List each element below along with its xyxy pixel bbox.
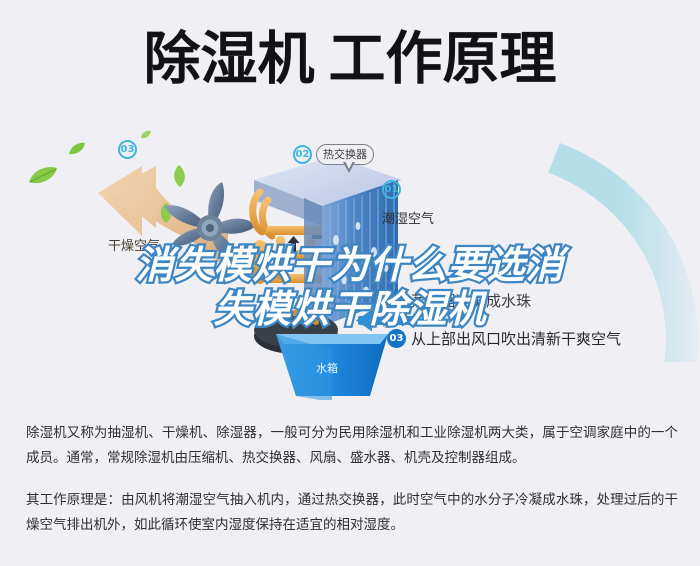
callout-heat-exchanger: 02 热交换器 (293, 144, 374, 165)
humid-air-label: 潮湿空气 (382, 208, 434, 227)
step-badge-03-top: 03 (118, 140, 137, 159)
leaf-icon (140, 130, 152, 140)
step-badge-02-filled: 02 (387, 291, 406, 310)
bullet-item: 02 蒸发器冷凝成水珠 (387, 290, 621, 311)
step-badge-03-filled: 03 (387, 329, 406, 348)
bubble-tail-icon (343, 162, 355, 173)
heat-exchanger-label: 热交换器 (316, 144, 374, 165)
diagram-bullet-list: 02 蒸发器冷凝成水珠 03 从上部出风口吹出清新干爽空气 (387, 290, 621, 366)
paragraph-1: 除湿机又称为抽湿机、干燥机、除湿器，一般可分为民用除湿机和工业除湿机两大类，属于… (26, 421, 678, 471)
callout-dry-air: 03 (118, 140, 137, 159)
water-tank-label: 水箱 (316, 360, 338, 376)
body-text: 除湿机又称为抽湿机、干燥机、除湿器，一般可分为民用除湿机和工业除湿机两大类，属于… (26, 421, 678, 538)
bullet-text: 蒸发器冷凝成水珠 (411, 290, 531, 311)
leaf-icon (68, 142, 86, 156)
leaf-icon (28, 166, 58, 186)
bullet-item: 03 从上部出风口吹出清新干爽空气 (387, 328, 621, 349)
working-principle-diagram: 水箱 02 热交换器 01 潮湿空气 03 干燥空气 02 蒸发器冷凝成水珠 (0, 118, 700, 400)
page-title: 除湿机 工作原理 (0, 26, 700, 92)
page-title-part1: 除湿机 (143, 26, 314, 92)
bullet-text: 从上部出风口吹出清新干爽空气 (411, 328, 621, 349)
dry-air-label: 干燥空气 (108, 235, 160, 254)
page-title-part2: 工作原理 (329, 26, 557, 92)
callout-humid-air: 01 潮湿空气 (382, 180, 434, 227)
paragraph-2: 其工作原理是：由风机将潮湿空气抽入机内，通过热交换器，此时空气中的水分子冷凝成水… (26, 488, 678, 538)
step-badge-02: 02 (293, 145, 312, 164)
infographic-page: 除湿机 工作原理 (0, 0, 700, 566)
step-badge-01: 01 (382, 180, 401, 199)
